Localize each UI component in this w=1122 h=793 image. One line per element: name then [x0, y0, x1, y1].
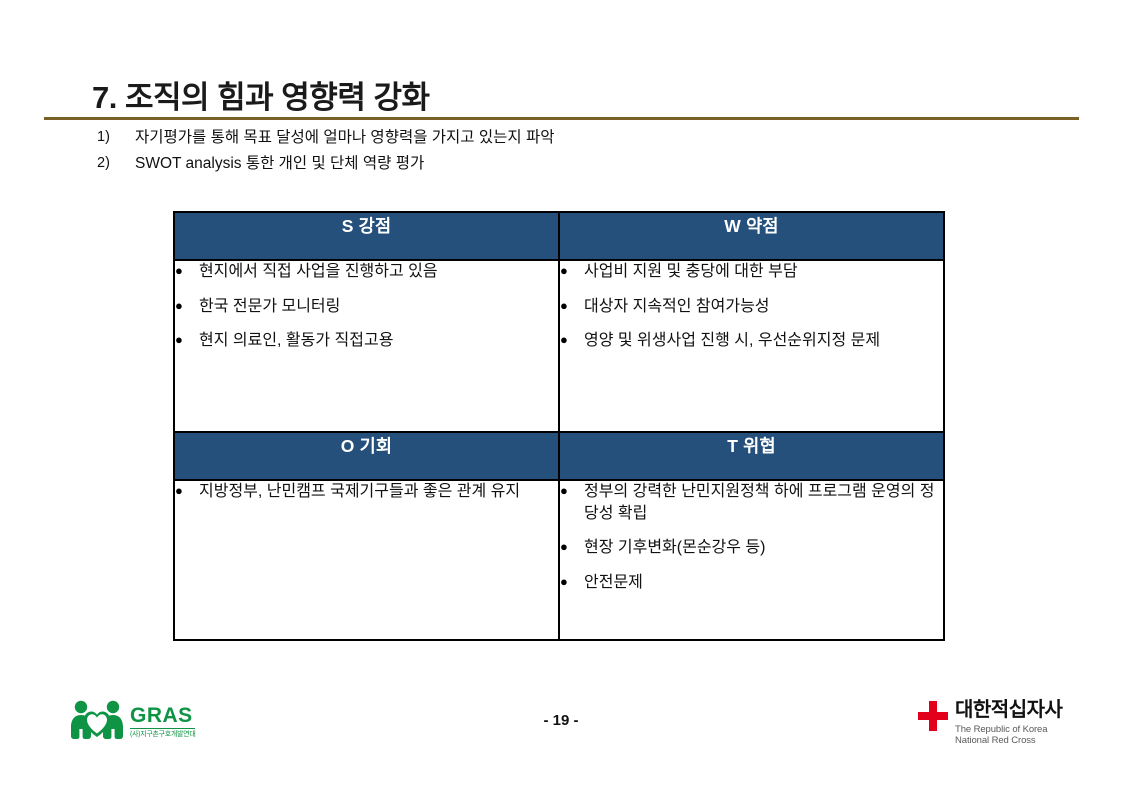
swot-cell-strengths: ● 현지에서 직접 사업을 진행하고 있음 ● 한국 전문가 모니터링 ● 현지… — [174, 260, 559, 432]
list-item-text: 대상자 지속적인 참여가능성 — [584, 296, 943, 318]
swot-cell-opportunities: ● 지방정부, 난민캠프 국제기구들과 좋은 관계 유지 — [174, 480, 559, 640]
gras-name: GRAS — [130, 705, 195, 729]
slide-canvas: 7. 조직의 힘과 영향력 강화 1) 자기평가를 통해 목표 달성에 얼마나 … — [0, 0, 1122, 793]
bullet-icon: ● — [175, 330, 199, 350]
bullet-icon: ● — [560, 481, 584, 501]
list-item: ● 현장 기후변화(몬순강우 등) — [560, 537, 943, 559]
list-item: ● 현지 의료인, 활동가 직접고용 — [175, 330, 558, 352]
list-item-text: 자기평가를 통해 목표 달성에 얼마나 영향력을 가지고 있는지 파악 — [135, 128, 997, 149]
list-item-text: 지방정부, 난민캠프 국제기구들과 좋은 관계 유지 — [199, 481, 558, 503]
list-item-text: 현지에서 직접 사업을 진행하고 있음 — [199, 261, 558, 283]
bullet-icon: ● — [175, 261, 199, 281]
list-item: 2) SWOT analysis 통한 개인 및 단체 역량 평가 — [97, 154, 997, 175]
bullet-icon: ● — [560, 572, 584, 592]
swot-body-row-bottom: ● 지방정부, 난민캠프 국제기구들과 좋은 관계 유지 ● 정부의 강력한 난… — [174, 480, 944, 640]
list-item-marker: 2) — [97, 154, 135, 174]
bullet-icon: ● — [175, 481, 199, 501]
swot-header-weaknesses: W 약점 — [559, 212, 944, 260]
gras-subtitle: (사)지구촌구호개발연대 — [130, 731, 195, 738]
red-cross-english-line2: National Red Cross — [955, 735, 1062, 746]
swot-header-opportunities: O 기회 — [174, 432, 559, 480]
page-title: 7. 조직의 힘과 영향력 강화 — [92, 72, 430, 117]
red-cross-logo: 대한적십자사 The Republic of Korea National Re… — [918, 700, 1062, 746]
list-item: ● 지방정부, 난민캠프 국제기구들과 좋은 관계 유지 — [175, 481, 558, 503]
list-item: 1) 자기평가를 통해 목표 달성에 얼마나 영향력을 가지고 있는지 파악 — [97, 128, 997, 149]
swot-header-strengths: S 강점 — [174, 212, 559, 260]
red-cross-wordmark: 대한적십자사 The Republic of Korea National Re… — [955, 700, 1062, 746]
list-item-marker: 1) — [97, 128, 135, 148]
list-item: ● 한국 전문가 모니터링 — [175, 296, 558, 318]
list-item: ● 대상자 지속적인 참여가능성 — [560, 296, 943, 318]
swot-header-threats: T 위협 — [559, 432, 944, 480]
bullet-icon: ● — [560, 261, 584, 281]
list-item-text: SWOT analysis 통한 개인 및 단체 역량 평가 — [135, 154, 997, 175]
strengths-list: ● 현지에서 직접 사업을 진행하고 있음 ● 한국 전문가 모니터링 ● 현지… — [175, 261, 558, 352]
red-cross-english-line1: The Republic of Korea — [955, 724, 1062, 735]
weaknesses-list: ● 사업비 지원 및 충당에 대한 부담 ● 대상자 지속적인 참여가능성 ● … — [560, 261, 943, 352]
gras-logo: GRAS (사)지구촌구호개발연대 — [70, 698, 195, 745]
list-item-text: 현지 의료인, 활동가 직접고용 — [199, 330, 558, 352]
swot-header-row-bottom: O 기회 T 위협 — [174, 432, 944, 480]
list-item-text: 사업비 지원 및 충당에 대한 부담 — [584, 261, 943, 283]
intro-list: 1) 자기평가를 통해 목표 달성에 얼마나 영향력을 가지고 있는지 파악 2… — [97, 128, 997, 180]
swot-matrix: S 강점 W 약점 ● 현지에서 직접 사업을 진행하고 있음 ● 한국 전문가… — [173, 211, 945, 641]
list-item-text: 현장 기후변화(몬순강우 등) — [584, 537, 943, 559]
swot-header-row-top: S 강점 W 약점 — [174, 212, 944, 260]
list-item: ● 정부의 강력한 난민지원정책 하에 프로그램 운영의 정당성 확립 — [560, 481, 943, 524]
threats-list: ● 정부의 강력한 난민지원정책 하에 프로그램 운영의 정당성 확립 ● 현장… — [560, 481, 943, 593]
gras-wordmark: GRAS (사)지구촌구호개발연대 — [130, 705, 195, 738]
list-item: ● 사업비 지원 및 충당에 대한 부담 — [560, 261, 943, 283]
list-item: ● 안전문제 — [560, 572, 943, 594]
bullet-icon: ● — [175, 296, 199, 316]
list-item-text: 영양 및 위생사업 진행 시, 우선순위지정 문제 — [584, 330, 943, 352]
bullet-icon: ● — [560, 537, 584, 557]
swot-cell-threats: ● 정부의 강력한 난민지원정책 하에 프로그램 운영의 정당성 확립 ● 현장… — [559, 480, 944, 640]
bullet-icon: ● — [560, 330, 584, 350]
opportunities-list: ● 지방정부, 난민캠프 국제기구들과 좋은 관계 유지 — [175, 481, 558, 503]
list-item-text: 정부의 강력한 난민지원정책 하에 프로그램 운영의 정당성 확립 — [584, 481, 943, 524]
list-item-text: 한국 전문가 모니터링 — [199, 296, 558, 318]
red-cross-korean-name: 대한적십자사 — [955, 700, 1062, 721]
bullet-icon: ● — [560, 296, 584, 316]
red-cross-icon — [918, 701, 948, 736]
list-item: ● 현지에서 직접 사업을 진행하고 있음 — [175, 261, 558, 283]
swot-body-row-top: ● 현지에서 직접 사업을 진행하고 있음 ● 한국 전문가 모니터링 ● 현지… — [174, 260, 944, 432]
title-divider — [44, 117, 1079, 120]
list-item-text: 안전문제 — [584, 572, 943, 594]
swot-cell-weaknesses: ● 사업비 지원 및 충당에 대한 부담 ● 대상자 지속적인 참여가능성 ● … — [559, 260, 944, 432]
list-item: ● 영양 및 위생사업 진행 시, 우선순위지정 문제 — [560, 330, 943, 352]
gras-heart-figures-icon — [70, 698, 124, 745]
